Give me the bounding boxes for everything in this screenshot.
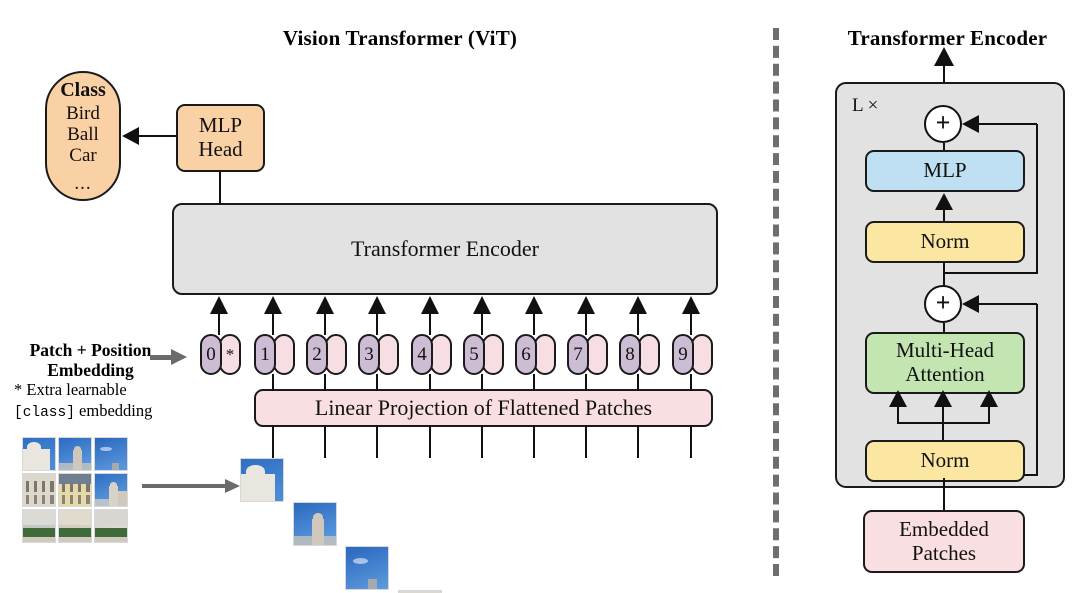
- repeat-count-label: L ×: [852, 95, 878, 117]
- patch-tower-top: [74, 446, 81, 453]
- residual-add-top: +: [924, 105, 962, 143]
- projection-output-line: [637, 374, 639, 391]
- encoder-norm-top-label: Norm: [921, 230, 970, 254]
- qkv-branch-right-stem: [988, 404, 990, 424]
- patch-window: [70, 495, 73, 504]
- footnote-class-token: [class]: [14, 405, 75, 421]
- encoder-block-panel: [835, 82, 1065, 488]
- encoder-input-arrow-stem: [429, 313, 431, 335]
- patch-cloud: [353, 558, 368, 564]
- token-position-pill: 4: [411, 334, 433, 375]
- projection-output-line: [533, 374, 535, 391]
- patch-window: [50, 495, 53, 504]
- patch-to-projection-line: [324, 426, 326, 458]
- token-position-pill: 7: [567, 334, 589, 375]
- patch-building-right: [118, 491, 128, 506]
- patch-base: [59, 463, 91, 470]
- source-patch-8: [58, 509, 92, 543]
- patch-to-projection-line: [690, 426, 692, 458]
- projection-output-line: [481, 374, 483, 391]
- source-patch-6: [94, 473, 128, 507]
- projection-output-line: [429, 374, 431, 391]
- token-1: 1: [254, 334, 295, 375]
- footnote-line1: * Extra learnable: [14, 380, 152, 401]
- patch-building: [23, 449, 50, 470]
- patch-to-projection-line: [637, 426, 639, 458]
- projection-output-line: [585, 374, 587, 391]
- embedded-patches-box: Embedded Patches: [863, 510, 1025, 573]
- token-position-pill: 1: [254, 334, 276, 375]
- residual-path-bottom-vertical: [1036, 304, 1038, 476]
- residual-path-top-vertical: [1036, 124, 1038, 274]
- patch-window: [86, 495, 89, 504]
- patch-to-projection-line: [376, 426, 378, 458]
- patch-to-projection-line: [533, 426, 535, 458]
- vit-architecture-figure: Vision Transformer (ViT) Class Bird Ball…: [0, 0, 1080, 593]
- encoder-input-arrow-head: [264, 296, 282, 314]
- encoder-input-arrow-stem: [481, 313, 483, 335]
- embedding-label-line1: Patch + Position: [8, 340, 173, 360]
- encoder-input-arrow-head: [525, 296, 543, 314]
- patch-window: [34, 481, 37, 491]
- patch-to-projection-line: [585, 426, 587, 458]
- patch-to-projection-line: [272, 426, 274, 458]
- attention-line1: Multi-Head: [896, 339, 994, 363]
- qkv-arrow-right-head: [980, 390, 998, 407]
- encoder-input-arrow-stem: [376, 313, 378, 335]
- residual-path-bottom-top-horizontal: [975, 303, 1037, 305]
- patch-pavement: [23, 537, 55, 542]
- qkv-branch-center-stem: [942, 404, 944, 442]
- patch-building-row: [23, 510, 55, 525]
- encoder-input-arrow-stem: [585, 313, 587, 335]
- source-patch-3: [94, 437, 128, 471]
- left-panel-title: Vision Transformer (ViT): [190, 26, 610, 51]
- encoder-input-arrow-head: [577, 296, 595, 314]
- patch-window: [26, 495, 29, 504]
- patch-window: [62, 495, 65, 504]
- qkv-arrow-center-head: [934, 390, 952, 407]
- arrow-norm-to-mlp-head: [935, 193, 953, 210]
- source-patch-5: [58, 473, 92, 507]
- token-patch-pill: [638, 334, 660, 375]
- residual-path-bottom-arrow-head: [962, 295, 979, 313]
- patch-dome: [27, 442, 41, 452]
- token-0: 0*: [200, 334, 241, 375]
- patch-dome: [246, 465, 264, 478]
- patch-window: [50, 481, 53, 491]
- linear-projection-box: Linear Projection of Flattened Patches: [254, 389, 713, 427]
- extra-learnable-footnote: * Extra learnable [class] embedding: [14, 380, 152, 422]
- multi-head-attention-box: Multi-Head Attention: [865, 332, 1025, 394]
- encoder-input-arrow-stem: [690, 313, 692, 335]
- token-position-pill: 6: [515, 334, 537, 375]
- source-patch-2: [58, 437, 92, 471]
- patch-window: [26, 481, 29, 491]
- connector-mlp-head-to-encoder: [219, 172, 221, 203]
- image-patch-1: [240, 458, 284, 502]
- arrow-mlp-head-to-class-line: [138, 135, 176, 137]
- residual-path-top-arrow-head: [962, 115, 979, 133]
- encoder-norm-top-box: Norm: [865, 221, 1025, 263]
- encoder-input-arrow-stem: [272, 313, 274, 335]
- embedded-patches-line2: Patches: [912, 542, 976, 566]
- source-patch-1: [22, 437, 56, 471]
- patch-far-building: [112, 463, 119, 470]
- patch-position-embedding-label: Patch + Position Embedding: [8, 340, 173, 380]
- source-patch-7: [22, 509, 56, 543]
- attention-line2: Attention: [905, 363, 984, 387]
- patch-tower-top: [110, 482, 117, 489]
- encoder-input-arrow-stem: [324, 313, 326, 335]
- patch-window: [78, 495, 81, 504]
- token-patch-pill: [586, 334, 608, 375]
- patch-pavement: [59, 537, 91, 542]
- patch-base: [294, 536, 336, 545]
- token-2: 2: [306, 334, 347, 375]
- token-position-pill: 0: [200, 334, 222, 375]
- encoder-mlp-box: MLP: [865, 150, 1025, 192]
- encoder-input-arrow-head: [210, 296, 228, 314]
- encoder-norm-bottom-box: Norm: [865, 440, 1025, 482]
- patch-sky-band: [59, 474, 91, 484]
- patch-far-building: [368, 579, 377, 589]
- projection-output-line: [376, 374, 378, 391]
- token-patch-pill: [691, 334, 713, 375]
- class-token-star-pill: *: [219, 334, 241, 375]
- token-9: 9: [672, 334, 713, 375]
- embedding-label-line2: Embedding: [8, 360, 173, 380]
- encoder-input-arrow-head: [316, 296, 334, 314]
- encoder-input-arrow-head: [421, 296, 439, 314]
- patch-to-projection-line: [481, 426, 483, 458]
- encoder-mlp-label: MLP: [923, 159, 966, 183]
- panel-divider: [773, 28, 779, 576]
- token-5: 5: [463, 334, 504, 375]
- patch-tower-top: [313, 513, 323, 522]
- encoder-input-arrow-head: [629, 296, 647, 314]
- token-patch-pill: [273, 334, 295, 375]
- residual-add-bottom: +: [924, 285, 962, 323]
- patch-window: [34, 495, 37, 504]
- source-patch-9: [94, 509, 128, 543]
- projection-output-line: [272, 374, 274, 391]
- patch-building-row: [59, 510, 91, 525]
- embedded-patches-line1: Embedded: [899, 518, 989, 542]
- encoder-input-arrow-head: [682, 296, 700, 314]
- token-patch-pill: [325, 334, 347, 375]
- encoder-input-arrow-stem: [533, 313, 535, 335]
- encoder-output-arrow-head: [934, 47, 954, 66]
- token-patch-pill: [482, 334, 504, 375]
- connector-embedded-patches-to-norm: [943, 478, 945, 512]
- source-patch-4: [22, 473, 56, 507]
- class-item: Ball: [67, 124, 99, 145]
- token-position-pill: 2: [306, 334, 328, 375]
- transformer-encoder-label: Transformer Encoder: [351, 237, 539, 262]
- projection-output-line: [324, 374, 326, 391]
- encoder-input-arrow-head: [473, 296, 491, 314]
- patch-building-row: [95, 510, 127, 525]
- source-image-grid: [22, 437, 128, 543]
- mlp-head-line1: MLP: [199, 114, 242, 138]
- token-position-pill: 3: [358, 334, 380, 375]
- transformer-encoder-box: Transformer Encoder: [172, 203, 718, 295]
- token-patch-pill: [377, 334, 399, 375]
- image-patch-3: [345, 546, 389, 590]
- patch-window: [42, 495, 45, 504]
- arrow-mlp-head-to-class-head: [122, 127, 139, 145]
- residual-path-top-top-horizontal: [975, 123, 1037, 125]
- arrow-embedding-label-head: [171, 349, 187, 365]
- connector-norm-to-mlp: [943, 208, 945, 222]
- class-heading: Class: [60, 79, 106, 101]
- token-patch-pill: [534, 334, 556, 375]
- token-position-pill: 5: [463, 334, 485, 375]
- token-patch-pill: [430, 334, 452, 375]
- class-output-box: Class Bird Ball Car ...: [45, 71, 121, 201]
- arrow-source-to-patches-line: [142, 484, 226, 488]
- token-position-pill: 8: [619, 334, 641, 375]
- class-item: Car: [69, 145, 96, 166]
- linear-projection-label: Linear Projection of Flattened Patches: [315, 396, 652, 421]
- token-4: 4: [411, 334, 452, 375]
- image-patch-2: [293, 502, 337, 546]
- mlp-head-box: MLP Head: [176, 104, 265, 172]
- token-7: 7: [567, 334, 608, 375]
- class-item: Bird: [66, 103, 100, 124]
- class-ellipsis: ...: [74, 173, 91, 194]
- token-6: 6: [515, 334, 556, 375]
- encoder-input-arrow-stem: [637, 313, 639, 335]
- patch-cloud: [100, 447, 112, 452]
- footnote-line2-rest: embedding: [75, 401, 152, 420]
- residual-path-top-bottom-horizontal: [943, 272, 1038, 274]
- arrow-embedding-label-line: [150, 355, 172, 360]
- encoder-input-arrow-stem: [218, 313, 220, 335]
- mlp-head-line2: Head: [198, 138, 242, 162]
- patch-pavement: [95, 537, 127, 542]
- token-position-pill: 9: [672, 334, 694, 375]
- encoder-norm-bottom-label: Norm: [921, 449, 970, 473]
- qkv-arrow-left-head: [889, 390, 907, 407]
- encoder-input-arrow-head: [368, 296, 386, 314]
- projection-output-line: [690, 374, 692, 391]
- arrow-source-to-patches-head: [225, 479, 240, 493]
- token-3: 3: [358, 334, 399, 375]
- qkv-branch-left-stem: [897, 404, 899, 424]
- footnote-line2: [class] embedding: [14, 401, 152, 422]
- patch-window: [42, 481, 45, 491]
- token-8: 8: [619, 334, 660, 375]
- patch-to-projection-line: [429, 426, 431, 458]
